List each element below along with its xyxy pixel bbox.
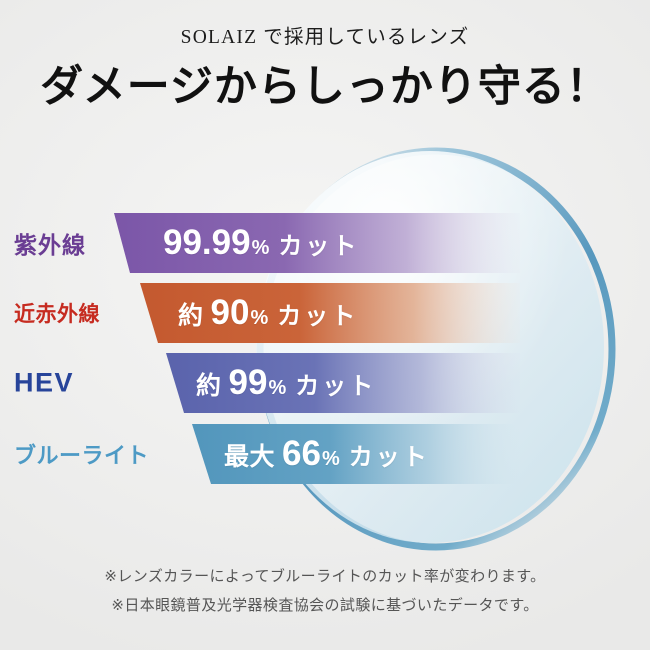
value-prefix-hev: 約: [196, 366, 222, 402]
value-percent-nir: %: [250, 307, 268, 330]
row-label-blue-light: ブルーライト: [14, 438, 149, 470]
infographic-canvas: SOLAIZ で採用しているレンズ ダメージからしっかり守る！: [0, 0, 650, 650]
value-suffix-nir: カット: [277, 296, 358, 331]
value-suffix-hev: カット: [295, 366, 376, 401]
value-suffix-uv: カット: [278, 226, 359, 261]
value-percent-uv: %: [252, 237, 270, 260]
row-label-nir: 近赤外線: [14, 298, 100, 328]
kicker-text: SOLAIZ で採用しているレンズ: [0, 26, 650, 49]
page-title: ダメージからしっかり守る！: [0, 61, 650, 115]
value-percent-blue-light: %: [322, 448, 340, 471]
bar-value-hev: 約 99 % カット: [196, 363, 376, 403]
value-number-hev: 99: [229, 363, 268, 403]
value-number-uv: 99.99: [163, 223, 251, 263]
row-label-uv: 紫外線: [14, 226, 86, 260]
value-prefix-nir: 約: [178, 296, 204, 332]
bar-value-uv: 99.99 % カット: [163, 223, 359, 263]
header-block: SOLAIZ で採用しているレンズ ダメージからしっかり守る！: [0, 26, 650, 115]
row-label-hev: HEV: [14, 368, 74, 399]
footnote-1: ※レンズカラーによってブルーライトのカット率が変わります。: [0, 562, 650, 591]
value-suffix-blue-light: カット: [349, 437, 430, 472]
footnotes-block: ※レンズカラーによってブルーライトのカット率が変わります。 ※日本眼鏡普及光学器…: [0, 562, 650, 621]
footnote-2: ※日本眼鏡普及光学器検査協会の試験に基づいたデータです。: [0, 591, 650, 620]
value-number-blue-light: 66: [282, 434, 321, 474]
value-prefix-blue-light: 最大: [224, 437, 275, 473]
value-number-nir: 90: [211, 293, 250, 333]
value-percent-hev: %: [268, 377, 286, 400]
bar-value-blue-light: 最大 66 % カット: [224, 434, 430, 474]
bar-value-nir: 約 90 % カット: [178, 293, 358, 333]
